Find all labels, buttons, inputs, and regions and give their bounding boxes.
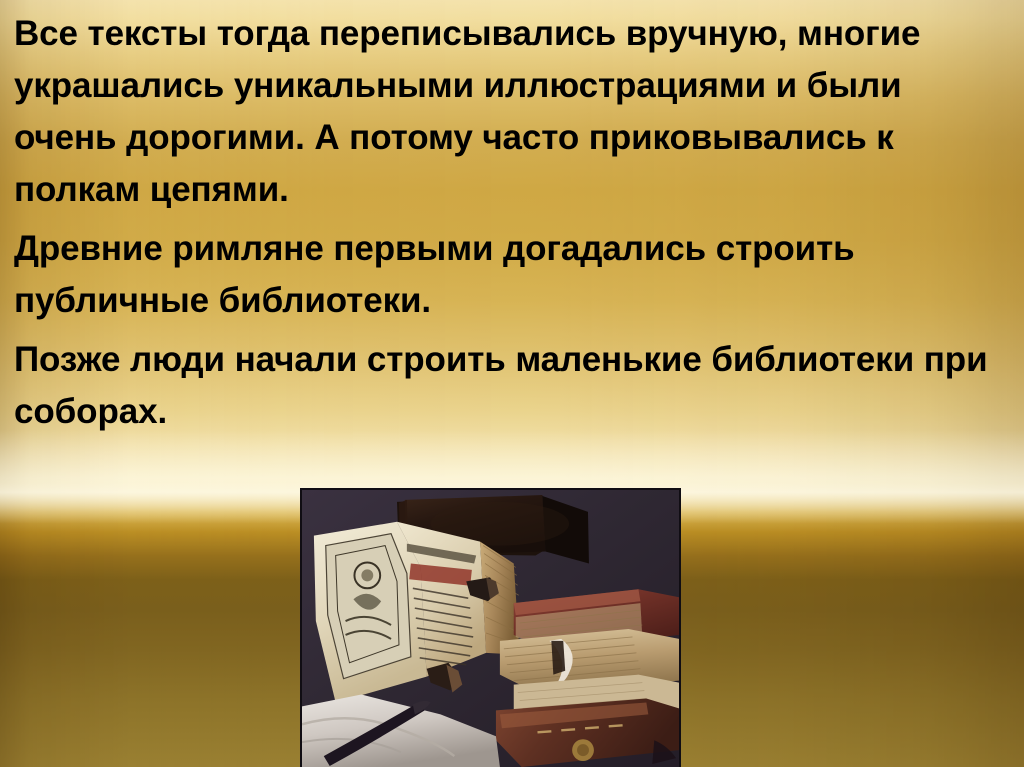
paragraph-3: Позже люди начали строить маленькие библ…: [14, 334, 994, 438]
antique-books-image: [300, 488, 681, 767]
slide-canvas: Все тексты тогда переписывались вручную,…: [0, 0, 1024, 767]
paragraph-2: Древние римляне первыми догадались строи…: [14, 223, 994, 327]
paragraph-1: Все тексты тогда переписывались вручную,…: [14, 8, 994, 216]
slide-text-block: Все тексты тогда переписывались вручную,…: [14, 8, 994, 438]
antique-books-painting-svg: [302, 490, 679, 767]
